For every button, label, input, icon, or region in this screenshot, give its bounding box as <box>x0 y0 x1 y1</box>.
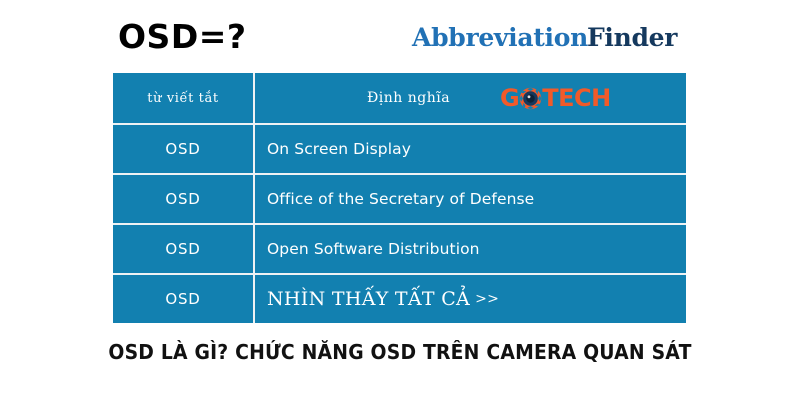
cell-definition: Office of the Secretary of Defense <box>255 175 686 223</box>
cell-abbreviation: OSD <box>113 125 255 173</box>
table-header-row: từ viết tắt Định nghĩa G <box>113 73 686 123</box>
brand-logo[interactable]: AbbreviationFinder <box>412 25 677 50</box>
column-header-abbreviation: từ viết tắt <box>113 73 255 123</box>
see-all-link[interactable]: NHÌN THẤY TẤT CẢ >> <box>255 275 686 323</box>
gotech-watermark-logo: G <box>500 86 611 110</box>
cell-abbreviation: OSD <box>113 175 255 223</box>
bottom-caption: OSD LÀ GÌ? CHỨC NĂNG OSD TRÊN CAMERA QUA… <box>24 340 776 364</box>
cell-abbreviation: OSD <box>113 275 255 323</box>
page-title: OSD=? <box>118 20 247 53</box>
camera-lens-icon <box>519 87 542 110</box>
abbreviation-table: từ viết tắt Định nghĩa G <box>113 73 686 323</box>
see-all-label: NHÌN THẤY TẤT CẢ <box>267 288 470 310</box>
page-header: OSD=? AbbreviationFinder <box>0 0 800 73</box>
cell-abbreviation: OSD <box>113 225 255 273</box>
table-row-see-all[interactable]: OSD NHÌN THẤY TẤT CẢ >> <box>113 273 686 323</box>
cell-definition: On Screen Display <box>255 125 686 173</box>
brand-logo-part-finder: Finder <box>587 23 677 52</box>
gotech-text-after: TECH <box>542 86 610 110</box>
table-row[interactable]: OSD Open Software Distribution <box>113 223 686 273</box>
column-header-definition-cell: Định nghĩa G <box>255 73 686 123</box>
table-row[interactable]: OSD On Screen Display <box>113 123 686 173</box>
cell-definition: Open Software Distribution <box>255 225 686 273</box>
chevron-right-icon: >> <box>475 291 499 307</box>
brand-logo-part-abbreviation: Abbreviation <box>412 23 588 52</box>
table-row[interactable]: OSD Office of the Secretary of Defense <box>113 173 686 223</box>
gotech-text-before: G <box>500 86 519 110</box>
column-header-definition: Định nghĩa <box>367 90 450 106</box>
